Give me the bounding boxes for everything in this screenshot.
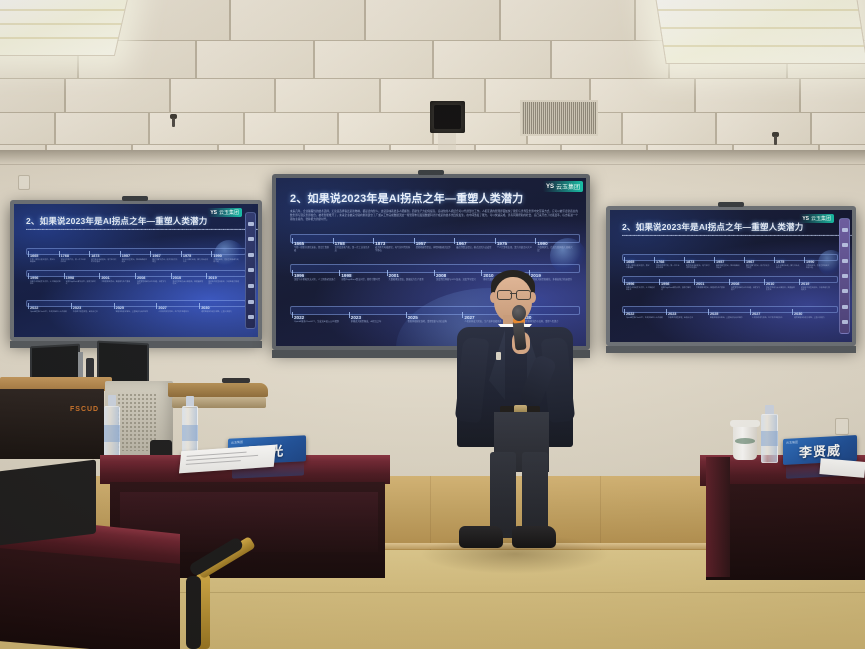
- timeline-note: 最近邻算法提出，模式识别方法成型: [456, 247, 492, 250]
- timeline-note: OpenAI发布ChatGPT，生成式AI进入公众视野: [30, 311, 68, 313]
- timeline-note: 人机协同成为常态，生产效率显著跃升: [158, 311, 196, 313]
- timeline-tick: [120, 251, 121, 257]
- timeline-tick: [28, 251, 29, 257]
- toolbar-icon-settings[interactable]: [842, 320, 848, 324]
- timeline-year: 2022: [626, 312, 634, 316]
- timeline-tick: [764, 279, 765, 285]
- cup-logo: [735, 438, 754, 444]
- timeline-year: 2019: [801, 282, 809, 286]
- ceiling-light-panel-right: [654, 0, 865, 64]
- timeline-note: 大数据概念提出，数据成为生产要素: [101, 281, 132, 283]
- left-display-panel: YS 云玉集团 2、如果说2023年是AI拐点之年—重塑人类潜力 ■■■■■■■…: [14, 204, 258, 337]
- ceiling-tile: [590, 78, 695, 114]
- center-display[interactable]: YS 云玉集团 2、如果说2023年是AI拐点之年—重塑人类潜力 未来几年，企业…: [272, 174, 590, 350]
- ceiling-tile: [622, 112, 717, 146]
- timeline-band-3: [290, 306, 580, 315]
- remote-control[interactable]: [222, 378, 250, 383]
- timeline-year: 2023: [351, 315, 361, 320]
- timeline-note: 移动互联网与云计算普及，数据量爆发增长: [766, 287, 796, 292]
- timeline-year: 1967: [456, 241, 466, 246]
- toolbar-icon-note[interactable]: [842, 228, 848, 232]
- ceiling-tile: [716, 112, 811, 146]
- ceiling-tile: [55, 112, 150, 146]
- ceiling-tile: [65, 78, 170, 114]
- left-display[interactable]: YS 云玉集团 2、如果说2023年是AI拐点之年—重塑人类潜力 ■■■■■■■…: [10, 200, 262, 341]
- timeline-tick: [714, 257, 715, 263]
- speaker-shoe-right: [512, 526, 556, 548]
- timeline-note: 万维网诞生，信息互联网络大规模兴起: [806, 265, 831, 270]
- timeline-note: 预训练大模型规模化，多模态能力快速提升: [801, 287, 831, 292]
- timeline-year: 2001: [101, 276, 109, 280]
- timeline-year: 1665: [294, 241, 304, 246]
- timeline-note: 智能体规模化落地，重塑组织与岗位结构: [710, 317, 747, 319]
- timeline-note: 瓦特改良蒸汽机，第一次工业革命开启: [656, 265, 681, 270]
- ceiling-tile: [800, 78, 865, 114]
- timeline-year: 1957: [716, 260, 724, 264]
- ceiling-tile: [0, 78, 65, 114]
- timeline-tick: [349, 312, 350, 318]
- timeline-note: 感知机模型提出，神经网络研究起步: [416, 247, 452, 250]
- center-slide-body: 未来几年，企业颠覆性的技术选择，无论是选择客还是新物种，都是走向智人。这就意味着…: [290, 210, 578, 221]
- timeline-year: 2025: [408, 315, 418, 320]
- logo-ys-mark: YS: [546, 184, 554, 190]
- timeline-tick: [135, 273, 136, 279]
- timeline-year: 2010: [483, 273, 493, 278]
- speaker-glasses-right-lens: [516, 290, 531, 300]
- timeline-year: 1998: [341, 273, 351, 278]
- ceiling-tile: [149, 112, 244, 146]
- timeline-year: 1990: [806, 260, 814, 264]
- center-slide-title: 2、如果说2023年是AI拐点之年—重塑人类潜力: [290, 190, 523, 206]
- timeline-year: 1996: [626, 282, 634, 286]
- timeline-tick: [28, 273, 29, 279]
- timeline-note: 麦克斯韦电磁理论，电气化时代的科学基石: [91, 259, 117, 264]
- toolbar-icon-share[interactable]: [842, 305, 848, 309]
- timeline-note: 大数据概念提出，数据成为生产要素: [389, 279, 431, 282]
- timeline-tick: [666, 309, 667, 315]
- timeline-note: 人机协同成为常态，生产效率显著跃升: [752, 317, 789, 319]
- timeline-year: 1768: [335, 241, 345, 246]
- timeline-tick: [774, 257, 775, 263]
- toolbar-icon-call[interactable]: [248, 284, 254, 288]
- coffee-cup: [733, 424, 757, 460]
- projector-mount: [430, 101, 465, 133]
- timeline-year: 1975: [183, 254, 191, 258]
- timeline-tick: [792, 309, 793, 315]
- left-display-camera: [122, 196, 148, 201]
- ceiling-tile: [314, 40, 432, 80]
- timeline-note: 深蓝与卡斯帕罗夫对弈，人工智能初显锋芒: [30, 281, 61, 286]
- sprinkler-head-right: [772, 132, 779, 145]
- timeline-tick: [799, 279, 800, 285]
- speaker-glasses-left-lens: [497, 290, 512, 300]
- timeline-year: 2025: [116, 306, 124, 310]
- ceiling-tile: [244, 112, 339, 146]
- logo-company-name: 云玉集团: [219, 209, 239, 216]
- timeline-note: 万维网诞生，信息互联网络大规模兴起: [213, 259, 239, 264]
- timeline-tick: [694, 279, 695, 285]
- right-slide-title: 2、如果说2023年是AI拐点之年—重塑人类潜力: [622, 221, 803, 233]
- timeline-tick: [434, 270, 435, 276]
- timeline-year: 1990: [213, 254, 221, 258]
- center-display-logo: YS 云玉集团: [543, 181, 583, 192]
- ceiling-tile: [551, 40, 669, 80]
- toolbar-icon-pen[interactable]: [842, 243, 848, 247]
- toolbar-icon-note[interactable]: [248, 222, 254, 226]
- timeline-year: 1990: [537, 241, 547, 246]
- timeline-year: 1768: [61, 254, 69, 258]
- timeline-tick: [387, 270, 388, 276]
- timeline-tick: [59, 251, 60, 257]
- timeline-note: 谷歌PageRank算法问世，搜索引擎时代: [66, 281, 97, 286]
- nameplate-logo: 云玉集团: [231, 440, 243, 445]
- timeline-tick: [624, 279, 625, 285]
- timeline-tick: [292, 270, 293, 276]
- cup-lid: [730, 420, 760, 427]
- timeline-note: 智能体规模化落地，重塑组织与岗位结构: [408, 321, 460, 324]
- timeline-year: 2030: [201, 306, 209, 310]
- timeline-tick: [171, 273, 172, 279]
- wall-outlet: [835, 418, 849, 435]
- logo-ys-mark: YS: [210, 210, 217, 216]
- toolbar-icon-board[interactable]: [248, 253, 254, 257]
- timeline-note: 深蓝与卡斯帕罗夫对弈，人工智能初显锋芒: [626, 287, 656, 292]
- wall-seam: [0, 164, 865, 165]
- air-vent: [520, 100, 598, 136]
- timeline-tick: [333, 238, 334, 244]
- timeline-year: 2008: [731, 282, 739, 286]
- timeline-note: 万维网诞生，信息互联网络大规模兴起: [537, 247, 573, 253]
- ceiling-tile: [196, 40, 314, 80]
- podium-body: [0, 389, 104, 459]
- ceiling-tile: [433, 40, 551, 80]
- wall-outlet-small: [18, 175, 30, 190]
- podium-side-shelf: [168, 383, 268, 397]
- toolbar-icon-apps[interactable]: [842, 274, 848, 278]
- toolbar-icon-call[interactable]: [842, 289, 848, 293]
- timeline-note: 多模态大模型爆发，AI拐点之年: [351, 321, 403, 324]
- timeline-note: 个人计算机出现，算力开始走向大众: [776, 265, 801, 270]
- ceiling-tile: [275, 78, 380, 114]
- timeline-year: 1975: [497, 241, 507, 246]
- timeline-note: 深蓝与卡斯帕罗夫对弈，人工智能初显锋芒: [294, 279, 336, 282]
- timeline-year: 1665: [30, 254, 38, 258]
- timeline-year: 1873: [686, 260, 694, 264]
- right-slide-body: ■■■■■■■■■■■■■■■■■■■■■■■■■■■■■■■■■■■■■■■■…: [622, 235, 836, 238]
- speaker-shoe-left: [459, 526, 503, 548]
- left-display-logo: YS 云玉集团: [207, 208, 242, 217]
- timeline-year: 1967: [152, 254, 160, 258]
- timeline-year: 2001: [389, 273, 399, 278]
- timeline-note: 牛顿—微积分理论发表，奠定计算基础: [30, 259, 56, 264]
- timeline-note: 深度置信网络与GPU加速，深度学习复兴: [731, 287, 761, 292]
- timeline-tick: [292, 238, 293, 244]
- timeline-year: 2027: [752, 312, 760, 316]
- timeline-tick: [684, 257, 685, 263]
- podium-brand-label: FSCUD: [70, 406, 99, 413]
- timeline-year: 2027: [158, 306, 166, 310]
- timeline-note: 智能体规模化落地，重塑组织与岗位结构: [116, 311, 154, 313]
- timeline-year: 2001: [696, 282, 704, 286]
- wall-top-shadow: [0, 150, 865, 164]
- microphone-head: [512, 305, 526, 321]
- timeline-tick: [181, 251, 182, 257]
- timeline-tick: [414, 238, 415, 244]
- timeline-tick: [114, 303, 115, 309]
- timeline-note: 最近邻算法提出，模式识别方法成型: [152, 259, 178, 264]
- timeline-year: 2023: [73, 306, 81, 310]
- ceiling-tile: [230, 0, 365, 42]
- toolbar-icon-apps[interactable]: [248, 268, 254, 272]
- toolbar-icon-board[interactable]: [842, 259, 848, 263]
- right-display-toolbar[interactable]: [839, 218, 850, 334]
- timeline-year: 1768: [656, 260, 664, 264]
- timeline-year: 2019: [208, 276, 216, 280]
- timeline-note: 麦克斯韦电磁理论，电气化时代的科学基石: [686, 265, 711, 270]
- presentation-photo-scene: YS 云玉集团 2、如果说2023年是AI拐点之年—重塑人类潜力 ■■■■■■■…: [0, 0, 865, 649]
- timeline-year: 1998: [66, 276, 74, 280]
- left-slide-body: ■■■■■■■■■■■■■■■■■■■■■■■■■■■■■■■■■■■■■■■■…: [26, 229, 244, 232]
- toolbar-icon-pen[interactable]: [248, 237, 254, 241]
- timeline-tick: [729, 279, 730, 285]
- timeline-tick: [659, 279, 660, 285]
- right-display-chin: [606, 346, 856, 353]
- timeline-note: 移动互联网与云计算普及，数据量爆发增长: [173, 281, 204, 286]
- timeline-note: 麦克斯韦电磁理论，电气化时代的科学基石: [375, 247, 411, 253]
- timeline-note: 通用智能体系趋于成熟，重塑人类潜力: [521, 321, 573, 324]
- timeline-tick: [708, 309, 709, 315]
- timeline-note: 牛顿—微积分理论发表，奠定计算基础: [626, 265, 651, 270]
- ceiling-tile: [365, 0, 500, 42]
- timeline-note: 多模态大模型爆发，AI拐点之年: [668, 317, 705, 319]
- timeline-year: 1957: [122, 254, 130, 258]
- left-slide-title: 2、如果说2023年是AI拐点之年—重塑人类潜力: [26, 215, 207, 227]
- sprinkler-head-left: [170, 114, 177, 127]
- timeline-year: 1873: [375, 241, 385, 246]
- timeline-tick: [654, 257, 655, 263]
- logo-company-name: 云玉集团: [811, 215, 831, 222]
- ceiling-tile: [811, 112, 865, 146]
- timeline-note: 牛顿—微积分理论发表，奠定计算基础: [294, 247, 330, 253]
- timeline-note: 个人计算机出现，算力开始走向大众: [183, 259, 209, 264]
- timeline-tick: [64, 273, 65, 279]
- right-display-logo: YS 云玉集团: [799, 214, 834, 223]
- timeline-year: 2030: [794, 312, 802, 316]
- timeline-note: 感知机模型提出，神经网络研究起步: [716, 265, 741, 270]
- timeline-tick: [624, 309, 625, 315]
- speaker-glasses-bridge: [510, 293, 516, 294]
- timeline-note: 个人计算机出现，算力开始走向大众: [497, 247, 533, 250]
- timeline-note: 预训练大模型规模化，多模态能力快速提升: [531, 279, 573, 282]
- timeline-year: 2027: [464, 315, 474, 320]
- chair-foreground-left: [0, 459, 96, 546]
- timeline-tick: [28, 303, 29, 309]
- timeline-note: 预训练大模型规模化，多模态能力快速提升: [208, 281, 239, 286]
- ceiling-tile: [695, 78, 800, 114]
- timeline-year: 2008: [137, 276, 145, 280]
- timeline-note: 最近邻算法提出，模式识别方法成型: [746, 265, 771, 270]
- timeline-note: 深度置信网络与GPU加速，深度学习复兴: [436, 279, 478, 282]
- timeline-tick: [804, 257, 805, 263]
- timeline-tick: [624, 257, 625, 263]
- timeline-note: 感知机模型提出，神经网络研究起步: [122, 259, 148, 264]
- timeline-year: 2025: [710, 312, 718, 316]
- timeline-note: 多模态大模型爆发，AI拐点之年: [73, 311, 111, 313]
- timeline-year: 1957: [416, 241, 426, 246]
- timeline-year: 2023: [668, 312, 676, 316]
- timeline-year: 1998: [661, 282, 669, 286]
- timeline-tick: [744, 257, 745, 263]
- logo-company-name: 云玉集团: [556, 182, 580, 191]
- timeline-year: 2010: [766, 282, 774, 286]
- timeline-note: 谷歌PageRank算法问世，搜索引擎时代: [341, 279, 383, 282]
- ceiling-tile: [500, 0, 635, 42]
- right-display-panel: YS 云玉集团 2、如果说2023年是AI拐点之年—重塑人类潜力 ■■■■■■■…: [610, 210, 852, 342]
- timeline-note: OpenAI发布ChatGPT，生成式AI进入公众视野: [294, 321, 346, 324]
- timeline-year: 2008: [436, 273, 446, 278]
- ceiling-tile: [170, 78, 275, 114]
- left-display-toolbar[interactable]: [245, 212, 256, 329]
- right-display[interactable]: YS 云玉集团 2、如果说2023年是AI拐点之年—重塑人类潜力 ■■■■■■■…: [606, 206, 856, 346]
- timeline-band-2: [290, 264, 580, 273]
- timeline-year: 1996: [30, 276, 38, 280]
- timeline-note: 通用智能体系趋于成熟，重塑人类潜力: [201, 311, 239, 313]
- right-display-camera: [718, 202, 744, 207]
- ceiling-tile: [0, 112, 55, 146]
- timeline-note: 深度置信网络与GPU加速，深度学习复兴: [137, 281, 168, 286]
- timeline-year: 1665: [626, 260, 634, 264]
- speaker-ear-left: [490, 292, 497, 303]
- timeline-note: 瓦特改良蒸汽机，第一次工业革命开启: [61, 259, 87, 264]
- ceiling-light-panel-left: [0, 0, 129, 56]
- timeline-note: 大数据概念提出，数据成为生产要素: [696, 287, 726, 289]
- center-display-panel: YS 云玉集团 2、如果说2023年是AI拐点之年—重塑人类潜力 未来几年，企业…: [276, 178, 586, 346]
- timeline-note: 通用智能体系趋于成熟，重塑人类潜力: [794, 317, 831, 319]
- timeline-year: 2010: [173, 276, 181, 280]
- timeline-year: 2022: [30, 306, 38, 310]
- timeline-year: 2022: [294, 315, 304, 320]
- timeline-note: OpenAI发布ChatGPT，生成式AI进入公众视野: [626, 317, 663, 319]
- timeline-note: 谷歌PageRank算法问世，搜索引擎时代: [661, 287, 691, 292]
- nameplate-logo: 云玉集团: [786, 440, 798, 445]
- center-display-camera: [418, 170, 444, 175]
- timeline-tick: [89, 251, 90, 257]
- timeline-tick: [750, 309, 751, 315]
- timeline-note: 瓦特改良蒸汽机，第一次工业革命开启: [335, 247, 371, 253]
- timeline-tick: [406, 312, 407, 318]
- timeline-tick: [495, 238, 496, 244]
- speaker-badge: [496, 352, 501, 360]
- timeline-year: 1975: [776, 260, 784, 264]
- water-bottle-right-desk: [761, 405, 778, 463]
- timeline-tick: [292, 312, 293, 318]
- timeline-year: 1967: [746, 260, 754, 264]
- timeline-year: 1996: [294, 273, 304, 278]
- toolbar-icon-settings[interactable]: [248, 315, 254, 319]
- timeline-tick: [373, 238, 374, 244]
- water-bottle-podium-left: [104, 395, 120, 461]
- toolbar-icon-share[interactable]: [248, 300, 254, 304]
- timeline-tick: [71, 303, 72, 309]
- ceiling-tile: [338, 112, 433, 146]
- timeline-year: 1873: [91, 254, 99, 258]
